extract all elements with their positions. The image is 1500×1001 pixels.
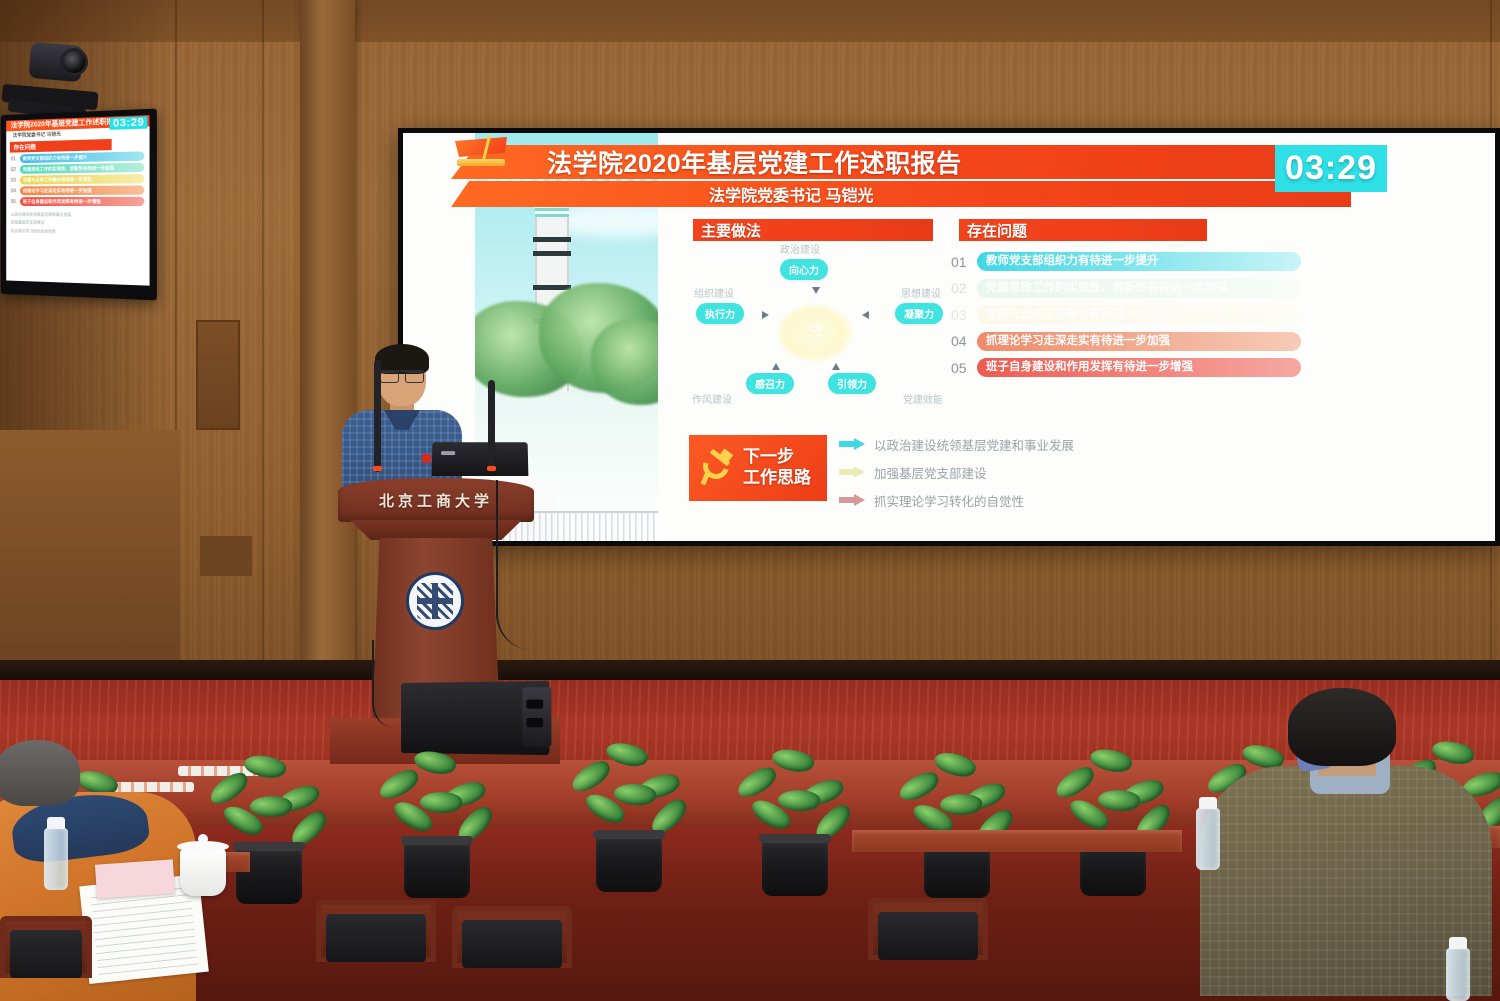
cm-row: 03 党建与业务工作融合有待进一步深化	[11, 174, 145, 185]
audience-hair	[0, 740, 80, 806]
conference-hall-scene: 法学院2020年基层党建工作述职报告 03:29 法学院党委书记 马铠光 存在问…	[0, 0, 1500, 1001]
next-step-item: 加强基层党支部建设	[839, 461, 1169, 483]
diagram-arrow-left-icon	[862, 311, 869, 319]
problem-number: 04	[951, 333, 977, 349]
arrow-right-icon	[839, 467, 865, 478]
ptz-camera	[2, 38, 112, 116]
microphone-left	[374, 360, 381, 472]
wall-panel-niche	[196, 320, 240, 430]
speaker-grille	[522, 687, 551, 747]
section-header-problems: 存在问题	[959, 219, 1207, 241]
next-step-item: 以政治建设统领基层党建和事业发展	[839, 433, 1169, 455]
slide-subtitle-ribbon: 法学院党委书记 马铠光	[451, 181, 1351, 207]
next-steps-line2: 工作思路	[743, 468, 811, 489]
planter-pot	[762, 838, 828, 896]
diagram-core-line1: 党建	[807, 324, 823, 333]
cm-row-num: 04	[11, 188, 18, 194]
arrow-right-icon	[839, 439, 865, 450]
cm-footer: 以政治建设统领基层党建和事业发展 加强基层党支部建设 抓实理论学习转化的自觉性	[11, 211, 145, 237]
problems-list: 01 教师党支部组织力有待进一步提升 02 党建思政工作的实效性、创新性有待进一…	[951, 251, 1301, 384]
next-steps-badge: 下一步 工作思路	[689, 435, 827, 501]
problem-row: 05 班子自身建设和作用发挥有待进一步增强	[951, 357, 1301, 378]
planter-pot	[596, 834, 662, 892]
next-step-text: 以政治建设统领基层党建和事业发展	[874, 435, 1074, 454]
party-badge-icon	[422, 454, 431, 463]
cm-timer: 03:29	[110, 116, 147, 130]
problem-text: 班子自身建设和作用发挥有待进一步增强	[977, 358, 1301, 377]
mic-led-indicator	[373, 466, 382, 471]
diagram-arrow-up-icon	[832, 363, 840, 370]
diagram-core: 党建 合力	[776, 303, 854, 363]
audience-chair	[868, 898, 988, 998]
problem-row: 03 党建与业务工作融合有待进一步深化	[951, 304, 1301, 325]
problem-row: 04 抓理论学习走深走实有待进一步加强	[951, 331, 1301, 352]
flag-icon	[451, 137, 517, 171]
audience-chair	[316, 900, 436, 1000]
glasses-icon	[380, 370, 424, 379]
diagram-pill-bottom-right: 引领力	[828, 373, 876, 394]
confidence-monitor-screen: 法学院2020年基层党建工作述职报告 03:29 法学院党委书记 马铠光 存在问…	[6, 115, 149, 286]
countdown-timer: 03:29	[1275, 145, 1387, 192]
diagram-arrow-up-icon	[772, 363, 780, 370]
cm-footer-item: 抓实理论学习转化的自觉性	[11, 227, 145, 237]
presentation-slide: 法学院2020年基层党建工作述职报告 法学院党委书记 马铠光 03:29 主要做…	[403, 133, 1495, 541]
camera-lens-icon	[60, 48, 88, 76]
teacup	[180, 848, 226, 896]
problem-text: 教师党支部组织力有待进一步提升	[977, 252, 1301, 271]
cm-row-num: 01	[11, 156, 18, 162]
diagram-label-bottom-left: 作风建设	[692, 391, 732, 406]
arrow-right-icon	[839, 495, 865, 506]
audience-hair	[1288, 688, 1396, 766]
audience-chair	[0, 916, 92, 1001]
side-wall	[0, 430, 180, 690]
diagram-label-top: 政治建设	[780, 241, 820, 256]
led-display-screen[interactable]: 法学院2020年基层党建工作述职报告 法学院党委书记 马铠光 03:29 主要做…	[398, 128, 1500, 546]
section-label: 主要做法	[693, 220, 761, 241]
cable	[496, 480, 532, 650]
cm-section-header: 存在问题	[10, 139, 112, 153]
diagram-pill-right: 凝聚力	[895, 303, 943, 324]
wall-seam	[262, 0, 264, 700]
water-bottle	[1196, 808, 1220, 870]
cable	[372, 640, 396, 728]
diagram-label-bottom-right: 党建效能	[903, 391, 943, 406]
wall-upper-trim	[0, 0, 1500, 42]
wall-vent	[200, 536, 252, 576]
diagram-pill-left: 执行力	[696, 303, 744, 324]
cm-row-bar: 党建思政工作的实效性、创新性有待进一步加强	[20, 163, 144, 174]
microphone-right	[488, 380, 495, 472]
problem-number: 02	[951, 280, 977, 296]
next-step-text: 加强基层党支部建设	[874, 463, 987, 482]
party-emblem-icon	[697, 447, 737, 489]
cm-row-bar: 教师党支部组织力有待进一步提升	[20, 151, 144, 163]
problem-row: 01 教师党支部组织力有待进一步提升	[951, 251, 1301, 272]
slide-subtitle: 法学院党委书记 马铠光	[709, 182, 873, 206]
audience-table	[852, 830, 1182, 852]
problem-number: 03	[951, 307, 977, 323]
problem-text: 党建思政工作的实效性、创新性有待进一步加强	[977, 279, 1301, 298]
diagram-arrow-down-icon	[812, 287, 820, 294]
confidence-monitor[interactable]: 法学院2020年基层党建工作述职报告 03:29 法学院党委书记 马铠光 存在问…	[1, 109, 157, 301]
document-cover	[95, 859, 175, 898]
diagram-pill-bottom-left: 感召力	[746, 373, 794, 394]
problem-number: 01	[951, 254, 977, 270]
water-bottle	[1446, 948, 1470, 1001]
laptop-logo	[441, 451, 455, 455]
cm-row-num: 02	[11, 167, 18, 173]
problem-text: 党建与业务工作融合有待进一步深化	[977, 305, 1301, 324]
presenter-laptop	[432, 442, 529, 476]
university-seal-icon	[406, 572, 464, 630]
party-building-diagram: 党建 合力 政治建设 向心力 组织建设 执行力 思想建设 凝聚力 作风建设 感召…	[688, 243, 943, 423]
mic-led-indicator	[487, 466, 496, 471]
cm-row: 02 党建思政工作的实效性、创新性有待进一步加强	[11, 163, 145, 174]
diagram-arrow-right-icon	[762, 311, 769, 319]
section-header-main-practices: 主要做法	[693, 219, 933, 241]
problem-row: 02 党建思政工作的实效性、创新性有待进一步加强	[951, 278, 1301, 299]
diagram-pill-top: 向心力	[780, 259, 828, 280]
cm-row-num: 03	[11, 177, 18, 183]
cm-row: 04 抓理论学习走深走实有待进一步加强	[11, 185, 145, 195]
cm-row-bar: 党建与业务工作融合有待进一步深化	[20, 174, 144, 184]
diagram-core-line2: 合力	[807, 333, 823, 342]
cm-row-bar: 抓理论学习走深走实有待进一步加强	[20, 185, 144, 195]
slide-title: 法学院2020年基层党建工作述职报告	[547, 144, 962, 180]
title-divider	[489, 179, 1249, 181]
problem-number: 05	[951, 360, 977, 376]
diagram-label-right: 思想建设	[901, 285, 941, 300]
water-bottle	[44, 828, 68, 890]
audience-chair	[452, 906, 572, 1001]
cm-row: 01 教师党支部组织力有待进一步提升	[11, 151, 145, 163]
next-steps-line1: 下一步	[743, 447, 811, 468]
diagram-label-left: 组织建设	[694, 285, 734, 300]
next-step-item: 抓实理论学习转化的自觉性	[839, 489, 1169, 511]
slide-title-ribbon: 法学院2020年基层党建工作述职报告	[451, 145, 1351, 179]
cm-row: 05 班子自身建设和作用发挥有待进一步增强	[11, 197, 145, 206]
next-steps-list: 以政治建设统领基层党建和事业发展 加强基层党支部建设 抓实理论学习转化的自觉性	[839, 433, 1169, 517]
section-label: 存在问题	[959, 220, 1027, 241]
next-steps-label: 下一步 工作思路	[743, 447, 811, 488]
next-step-text: 抓实理论学习转化的自觉性	[874, 491, 1024, 510]
problem-text: 抓理论学习走深走实有待进一步加强	[977, 332, 1301, 351]
cm-row-bar: 班子自身建设和作用发挥有待进一步增强	[20, 197, 144, 206]
cm-row-num: 05	[11, 199, 18, 205]
planter-pot	[404, 840, 470, 898]
